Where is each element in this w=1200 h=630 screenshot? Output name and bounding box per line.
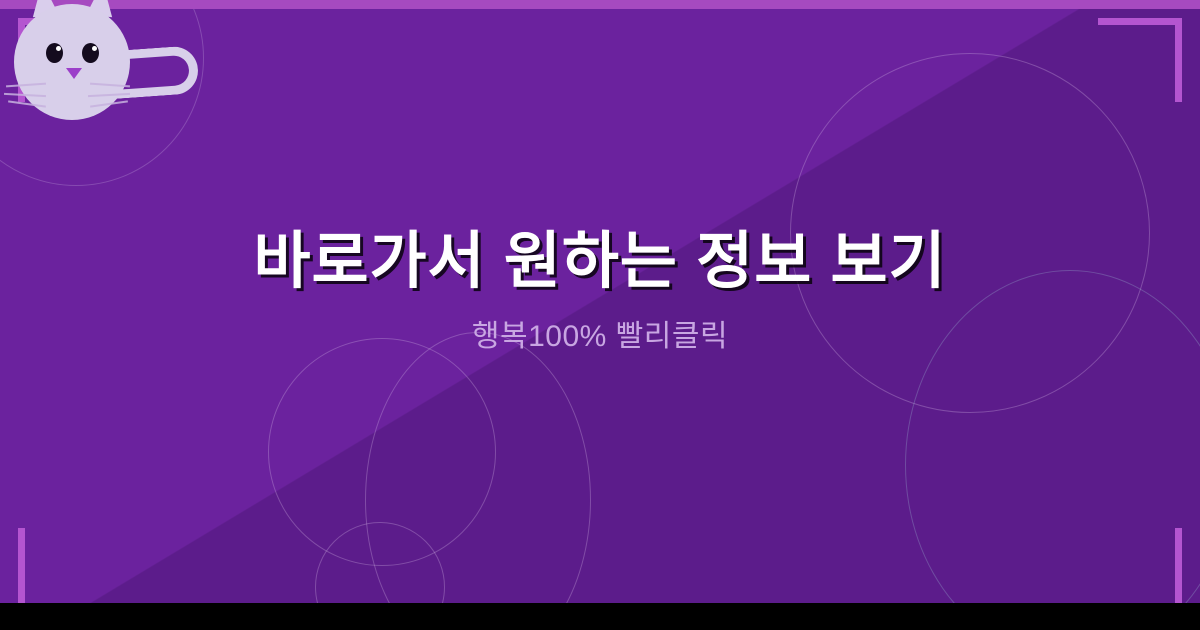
banner-headline: 바로가서 원하는 정보 보기 xyxy=(253,226,946,297)
bottom-black-band xyxy=(0,603,1200,630)
promo-banner: 바로가서 원하는 정보 보기 행복100% 빨리클릭 xyxy=(0,0,1200,630)
banner-subline: 행복100% 빨리클릭 xyxy=(472,311,728,355)
banner-text-block: 바로가서 원하는 정보 보기 행복100% 빨리클릭 xyxy=(0,0,1200,603)
banner-canvas: 바로가서 원하는 정보 보기 행복100% 빨리클릭 xyxy=(0,0,1200,603)
